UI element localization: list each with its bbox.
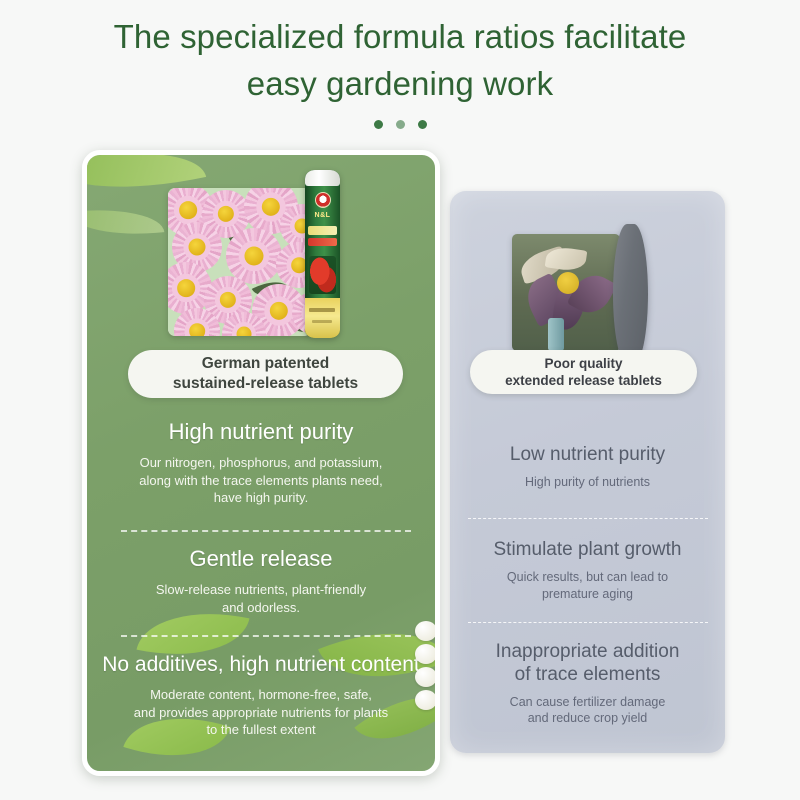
dot-indicator-2[interactable] <box>396 120 405 129</box>
flower-center <box>557 272 579 294</box>
brand-logo-icon <box>315 192 331 208</box>
carousel-dots[interactable] <box>0 120 800 129</box>
daisy-flower <box>226 228 282 284</box>
dot-indicator-1[interactable] <box>374 120 383 129</box>
leaf-decoration-icon <box>82 202 164 241</box>
poor-quality-label-line-1: Poor quality <box>544 355 622 372</box>
bad-feature-3-title-line-1: Inappropriate addition <box>450 641 725 664</box>
good-feature-3-desc-line-3: to the fullest extent <box>87 721 435 739</box>
bad-feature-3-desc-line-1: Can cause fertilizer damage <box>450 694 725 711</box>
wilted-flower-photo <box>512 234 620 351</box>
good-feature-3-desc-line-2: and provides appropriate nutrients for p… <box>87 704 435 722</box>
good-feature-2-desc-line-2: and odorless. <box>87 599 435 617</box>
fertilizer-tablet-tube: N&L <box>305 170 340 338</box>
bad-feature-3-title-line-2: of trace elements <box>450 664 725 687</box>
tablet-icon <box>415 667 437 687</box>
headline-line-2: easy gardening work <box>0 61 800 108</box>
bad-feature-3-desc: Can cause fertilizer damage and reduce c… <box>450 694 725 728</box>
flower-stem <box>548 318 564 351</box>
comparison-panel-german-patented: N&L German patented sustained-release ta… <box>82 150 440 776</box>
good-feature-2-desc: Slow-release nutrients, plant-friendly a… <box>87 581 435 616</box>
tablet-icon <box>415 690 437 710</box>
good-feature-3-desc: Moderate content, hormone-free, safe, an… <box>87 686 435 739</box>
pink-daisy-flowers-photo <box>168 188 311 336</box>
tube-label-band <box>308 226 337 235</box>
bad-feature-2-title: Stimulate plant growth <box>450 539 725 562</box>
good-feature-1-desc-line-3: have high purity. <box>87 489 435 507</box>
good-feature-1-desc: Our nitrogen, phosphorus, and potassium,… <box>87 454 435 507</box>
bad-feature-3-desc-line-2: and reduce crop yield <box>450 710 725 727</box>
grey-tablet-disc-overlay <box>613 224 648 364</box>
dot-indicator-3[interactable] <box>418 120 427 129</box>
flower-photo-content <box>168 188 311 336</box>
tube-brand-text: N&L <box>305 212 340 219</box>
tube-label-band-red <box>308 238 337 246</box>
bad-feature-3: Inappropriate addition of trace elements… <box>450 641 725 727</box>
bad-feature-1: Low nutrient purity High purity of nutri… <box>450 444 725 491</box>
bad-feature-1-desc: High purity of nutrients <box>450 474 725 491</box>
good-divider-2 <box>121 635 411 637</box>
german-patented-label-line-2: sustained-release tablets <box>173 374 358 394</box>
german-patented-label-line-1: German patented <box>202 354 329 374</box>
german-patented-label: German patented sustained-release tablet… <box>128 350 403 398</box>
tube-footer-band <box>305 298 340 338</box>
bad-feature-2-desc-line-2: premature aging <box>450 586 725 603</box>
good-feature-2: Gentle release Slow-release nutrients, p… <box>87 546 435 616</box>
good-feature-3: No additives, high nutrient content Mode… <box>87 652 435 739</box>
good-feature-2-desc-line-1: Slow-release nutrients, plant-friendly <box>87 581 435 599</box>
good-feature-1: High nutrient purity Our nitrogen, phosp… <box>87 419 435 507</box>
tube-flower-graphic <box>309 256 336 294</box>
bad-feature-1-title: Low nutrient purity <box>450 444 725 467</box>
good-divider-1 <box>121 530 411 532</box>
tablet-icon <box>415 621 437 641</box>
poor-quality-label: Poor quality extended release tablets <box>470 350 697 394</box>
good-feature-2-title: Gentle release <box>87 546 435 572</box>
tablet-stack <box>415 621 440 713</box>
bad-feature-2-desc-line-1: Quick results, but can lead to <box>450 569 725 586</box>
poor-quality-label-line-2: extended release tablets <box>505 372 662 389</box>
tablet-icon <box>415 644 437 664</box>
tube-cap <box>305 170 340 186</box>
good-feature-1-desc-line-1: Our nitrogen, phosphorus, and potassium, <box>87 454 435 472</box>
good-feature-3-desc-line-1: Moderate content, hormone-free, safe, <box>87 686 435 704</box>
good-feature-3-title: No additives, high nutrient content <box>87 652 435 677</box>
bad-feature-3-title: Inappropriate addition of trace elements <box>450 641 725 687</box>
headline-line-1: The specialized formula ratios facilitat… <box>114 18 687 55</box>
page-title: The specialized formula ratios facilitat… <box>0 14 800 108</box>
comparison-panel-poor-quality: Poor quality extended release tablets Lo… <box>450 191 725 753</box>
bad-divider-1 <box>468 518 708 519</box>
good-feature-1-desc-line-2: along with the trace elements plants nee… <box>87 472 435 490</box>
infographic-page: The specialized formula ratios facilitat… <box>0 0 800 800</box>
bad-feature-2: Stimulate plant growth Quick results, bu… <box>450 539 725 603</box>
good-feature-1-title: High nutrient purity <box>87 419 435 445</box>
bad-feature-2-desc: Quick results, but can lead to premature… <box>450 569 725 603</box>
bad-divider-2 <box>468 622 708 623</box>
